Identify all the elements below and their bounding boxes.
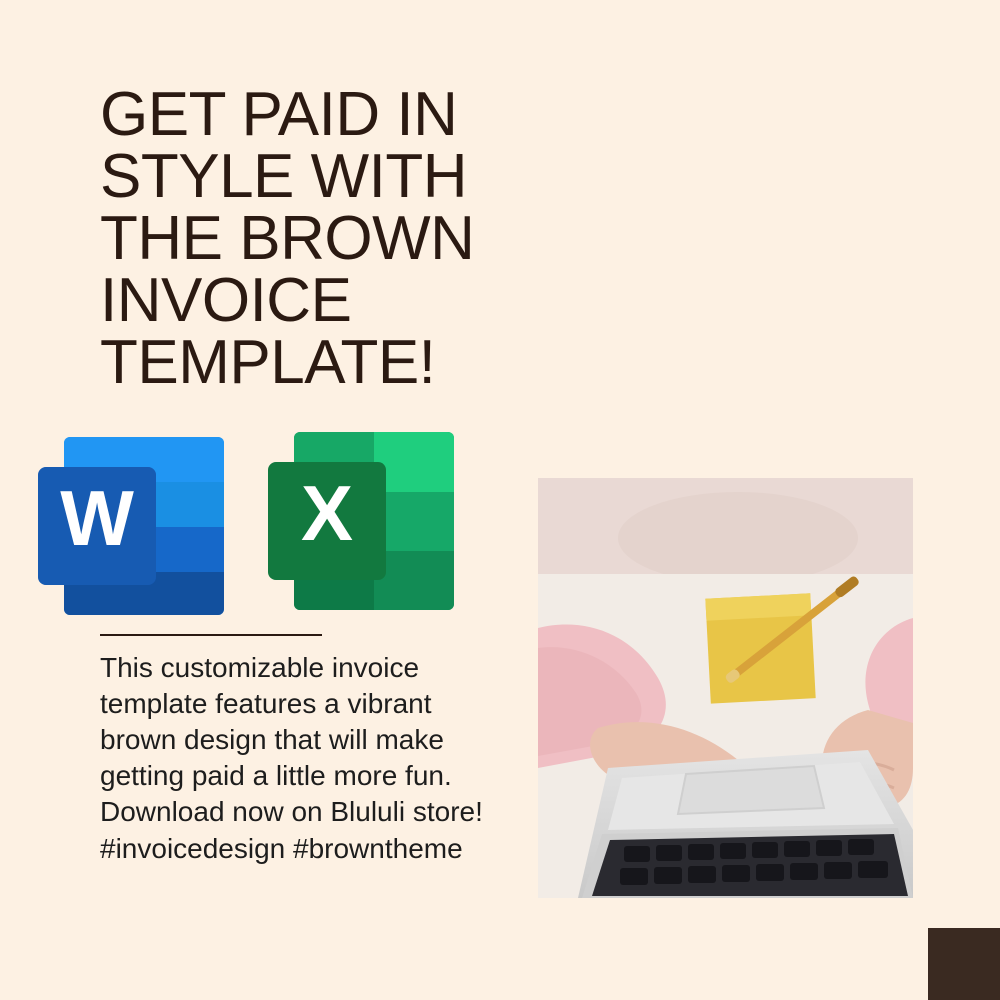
corner-accent-block xyxy=(928,928,1000,1000)
divider xyxy=(100,634,322,636)
body-paragraph: This customizable invoice template featu… xyxy=(100,650,500,831)
microsoft-excel-icon: X xyxy=(260,418,472,623)
body-copy: This customizable invoice template featu… xyxy=(100,650,500,867)
poster-canvas: GET PAID IN STYLE WITH THE BROWN INVOICE… xyxy=(0,0,1000,1000)
hashtags: #invoicedesign #browntheme xyxy=(100,831,500,867)
microsoft-word-icon: W xyxy=(30,423,242,628)
excel-icon-letter: X xyxy=(301,469,353,557)
page-title: GET PAID IN STYLE WITH THE BROWN INVOICE… xyxy=(100,84,570,394)
word-icon-letter: W xyxy=(60,474,134,562)
office-icons-group: W X xyxy=(30,418,480,628)
hands-typing-on-laptop-photo xyxy=(538,478,913,898)
